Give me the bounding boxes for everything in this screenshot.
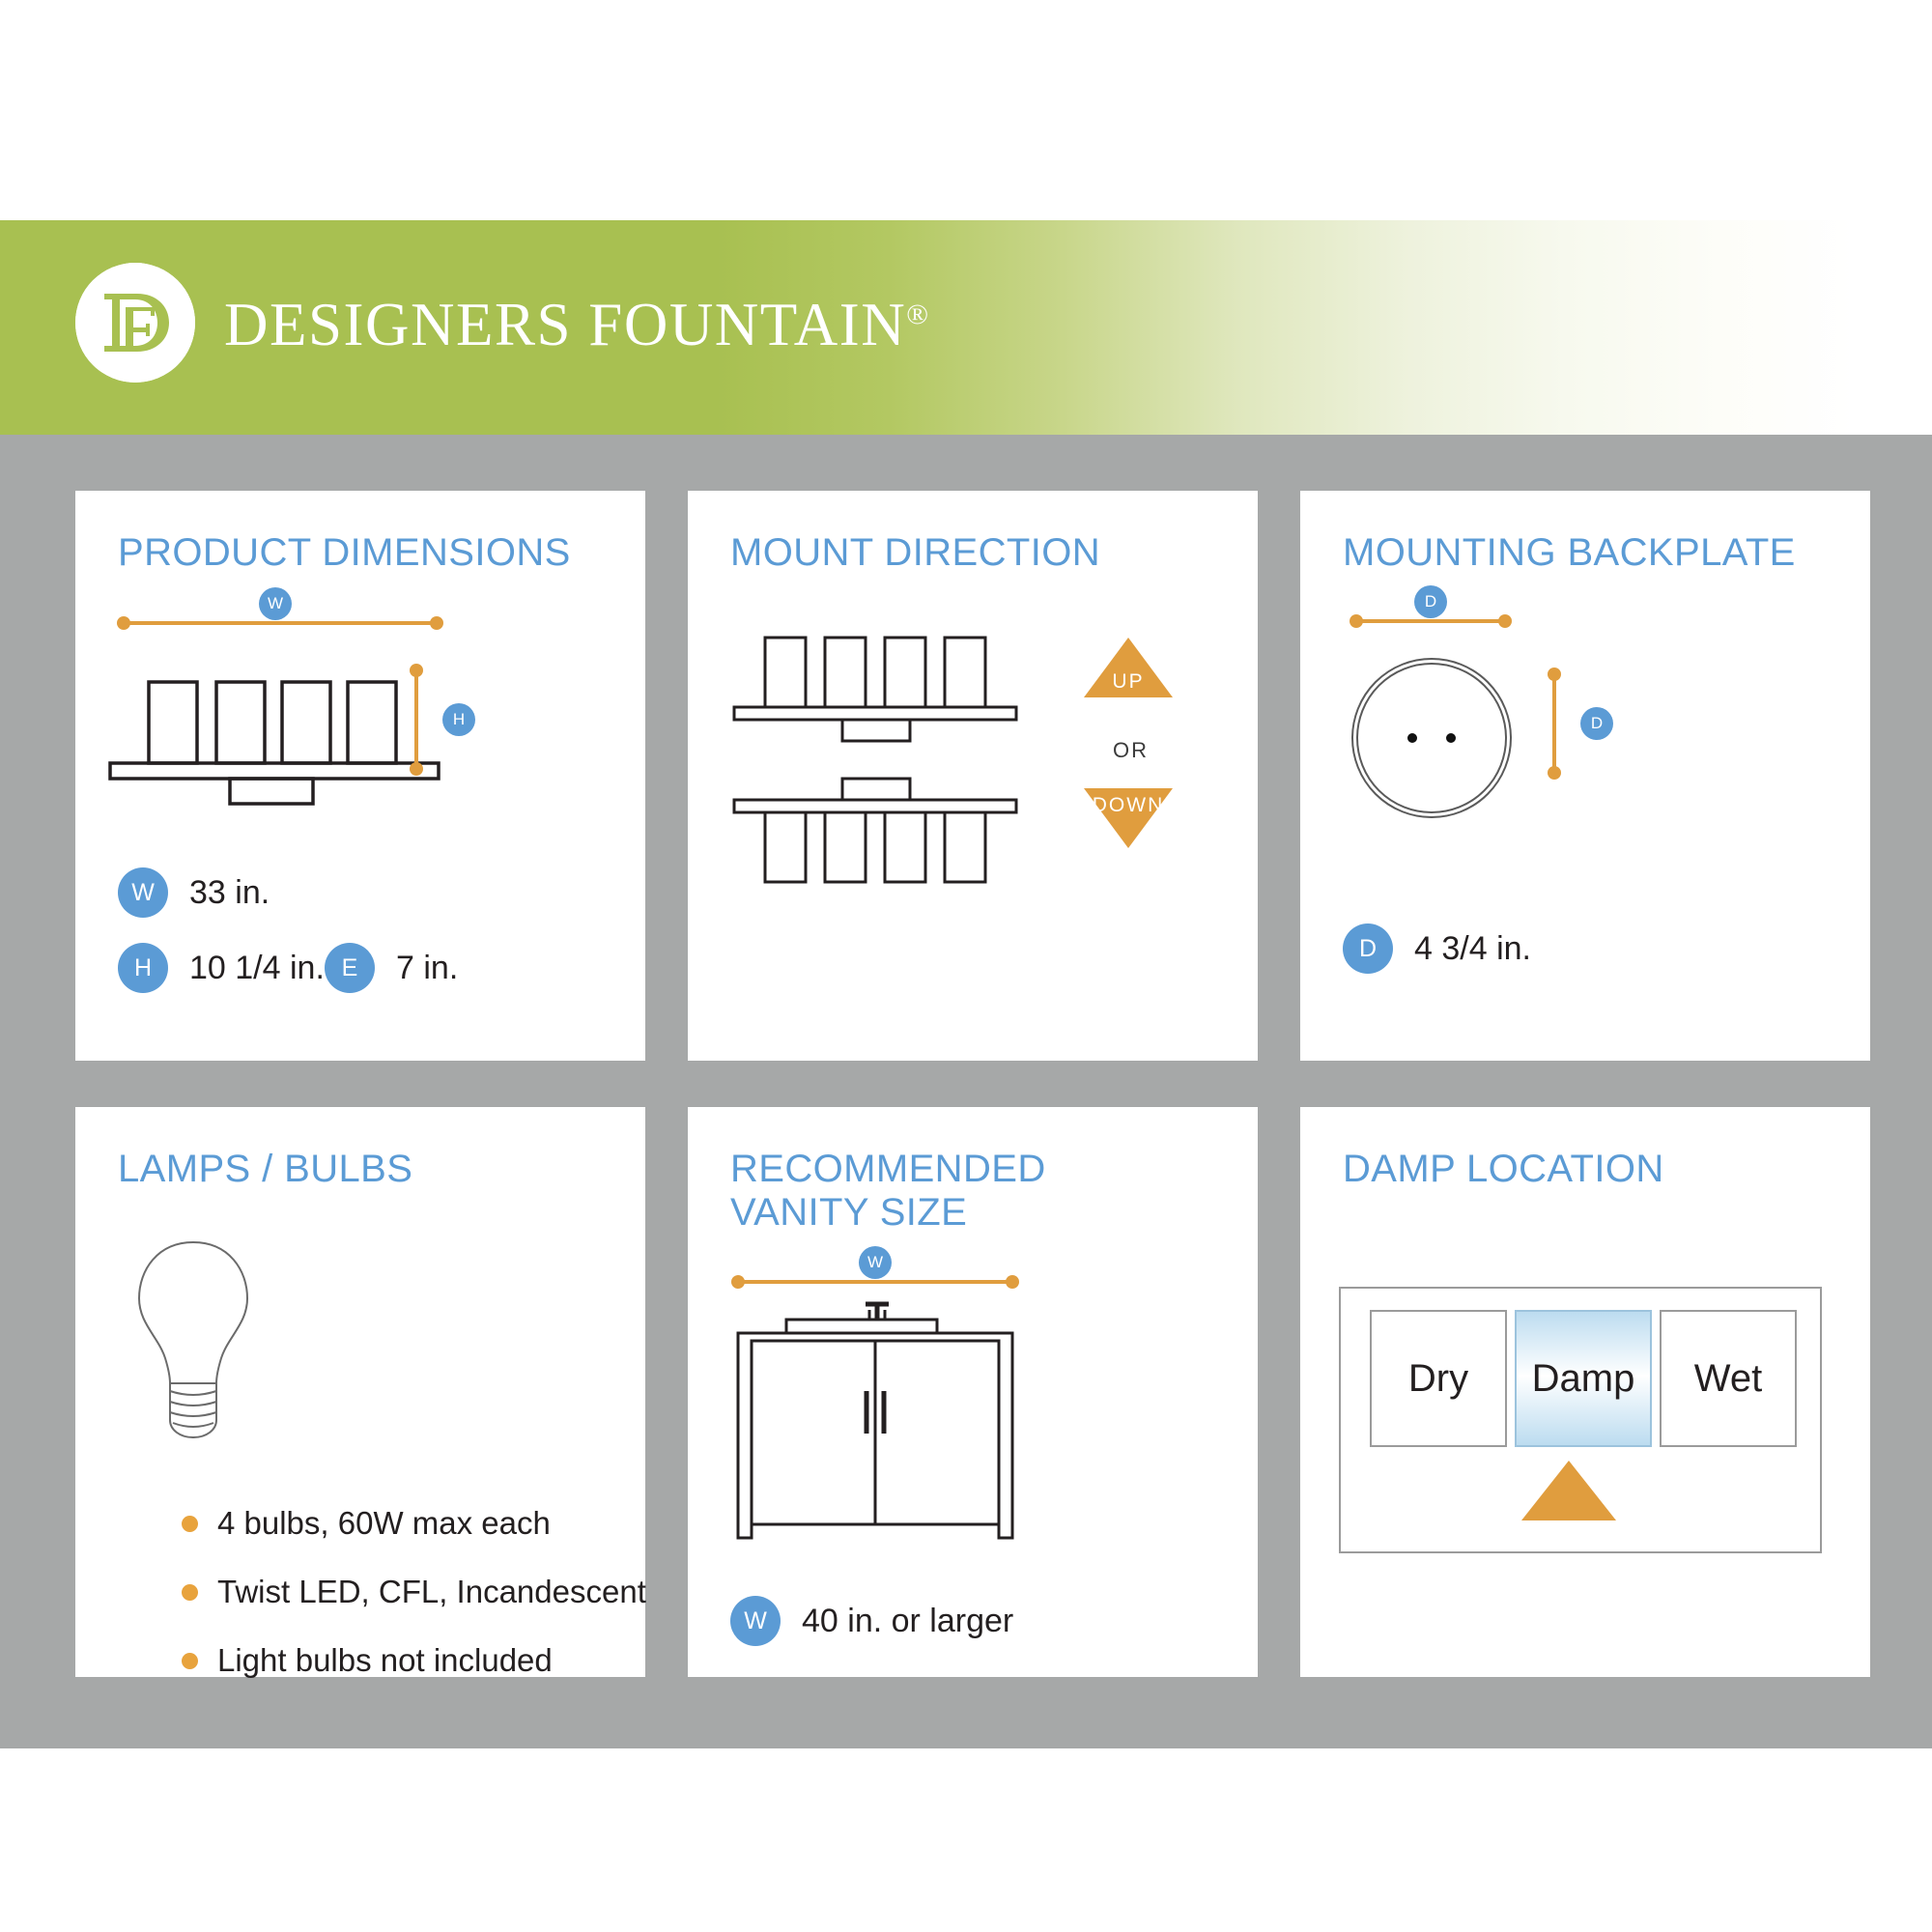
arrow-or-label: OR	[1113, 738, 1149, 763]
card-title-product-dimensions: PRODUCT DIMENSIONS	[118, 531, 603, 575]
bullet-label: 4 bulbs, 60W max each	[217, 1505, 551, 1542]
backplate-circle-drawing	[1347, 653, 1517, 823]
card-damp-location: DAMP LOCATION Dry Damp Wet	[1300, 1107, 1870, 1677]
card-title-damp-location: DAMP LOCATION	[1343, 1148, 1828, 1191]
list-item: Twist LED, CFL, Incandescent	[182, 1574, 646, 1610]
pill-vanity-w: W	[730, 1596, 781, 1646]
card-title-vanity-size: RECOMMENDED VANITY SIZE	[730, 1148, 1215, 1235]
arrow-up-label: UP	[1112, 670, 1144, 694]
pill-e: E	[325, 943, 375, 993]
brand-name-text: DESIGNERS FOUNTAIN	[224, 291, 906, 358]
bullet-dot-icon	[182, 1584, 198, 1601]
vanity-cabinet-drawing	[724, 1298, 1026, 1575]
card-product-dimensions: PRODUCT DIMENSIONS W	[75, 491, 645, 1061]
value-d: 4 3/4 in.	[1414, 930, 1531, 968]
card-title-line2: VANITY SIZE	[730, 1191, 1215, 1235]
card-mount-direction: MOUNT DIRECTION	[688, 491, 1258, 1061]
light-bulb-icon	[126, 1231, 261, 1453]
location-option-dry[interactable]: Dry	[1370, 1310, 1507, 1447]
card-title-mounting-backplate: MOUNTING BACKPLATE	[1343, 531, 1828, 575]
value-w: 33 in.	[189, 874, 270, 912]
location-rating-frame: Dry Damp Wet	[1339, 1287, 1822, 1553]
height-dimension-line	[408, 663, 425, 777]
spec-sheet: DESIGNERS FOUNTAIN® PRODUCT DIMENSIONS W	[0, 0, 1932, 1932]
marker-height: H	[442, 703, 475, 736]
arrow-down-icon: DOWN	[1084, 788, 1173, 848]
card-mounting-backplate: MOUNTING BACKPLATE D	[1300, 491, 1870, 1061]
dimension-row-extension: E 7 in.	[325, 943, 458, 993]
card-vanity-size: RECOMMENDED VANITY SIZE W	[688, 1107, 1258, 1677]
marker-width: W	[259, 587, 292, 620]
selected-location-arrow-icon	[1521, 1461, 1616, 1520]
registered-mark: ®	[906, 298, 928, 330]
brand-logo: DESIGNERS FOUNTAIN®	[75, 263, 928, 383]
backplate-height-line	[1546, 667, 1563, 781]
location-option-damp[interactable]: Damp	[1515, 1310, 1652, 1447]
pill-w: W	[118, 867, 168, 918]
brand-name: DESIGNERS FOUNTAIN®	[224, 290, 928, 360]
list-item: 4 bulbs, 60W max each	[182, 1505, 646, 1542]
card-title-line1: RECOMMENDED	[730, 1148, 1215, 1191]
bullet-dot-icon	[182, 1653, 198, 1669]
bulb-spec-list: 4 bulbs, 60W max each Twist LED, CFL, In…	[182, 1505, 646, 1711]
arrow-down-label: DOWN	[1093, 794, 1165, 817]
arrow-up-icon: UP	[1084, 638, 1173, 697]
pill-d: D	[1343, 923, 1393, 974]
list-item: Light bulbs not included	[182, 1642, 646, 1679]
location-option-wet[interactable]: Wet	[1660, 1310, 1797, 1447]
marker-backplate-height: D	[1580, 707, 1613, 740]
bullet-dot-icon	[182, 1516, 198, 1532]
value-e: 7 in.	[396, 950, 458, 987]
bullet-label: Light bulbs not included	[217, 1642, 553, 1679]
df-monogram-icon	[75, 263, 195, 383]
location-rating-options: Dry Damp Wet	[1370, 1310, 1797, 1447]
value-vanity-w: 40 in. or larger	[802, 1603, 1013, 1640]
card-title-mount-direction: MOUNT DIRECTION	[730, 531, 1215, 575]
spec-card-grid: PRODUCT DIMENSIONS W	[75, 491, 1861, 1677]
card-title-lamps-bulbs: LAMPS / BULBS	[118, 1148, 603, 1191]
fixture-mounted-up-drawing	[717, 628, 1036, 753]
dimension-row-height: H 10 1/4 in.	[118, 943, 325, 993]
marker-vanity-width: W	[859, 1246, 892, 1279]
pill-h: H	[118, 943, 168, 993]
fixture-mounted-down-drawing	[717, 771, 1036, 896]
card-lamps-bulbs: LAMPS / BULBS 4 bulbs, 60W ma	[75, 1107, 645, 1677]
marker-backplate-width: D	[1414, 585, 1447, 618]
dimension-row-backplate: D 4 3/4 in.	[1343, 923, 1531, 974]
bullet-label: Twist LED, CFL, Incandescent	[217, 1574, 646, 1610]
dimension-row-vanity: W 40 in. or larger	[730, 1596, 1013, 1646]
value-h: 10 1/4 in.	[189, 950, 325, 987]
dimension-row-width: W 33 in.	[118, 867, 270, 918]
